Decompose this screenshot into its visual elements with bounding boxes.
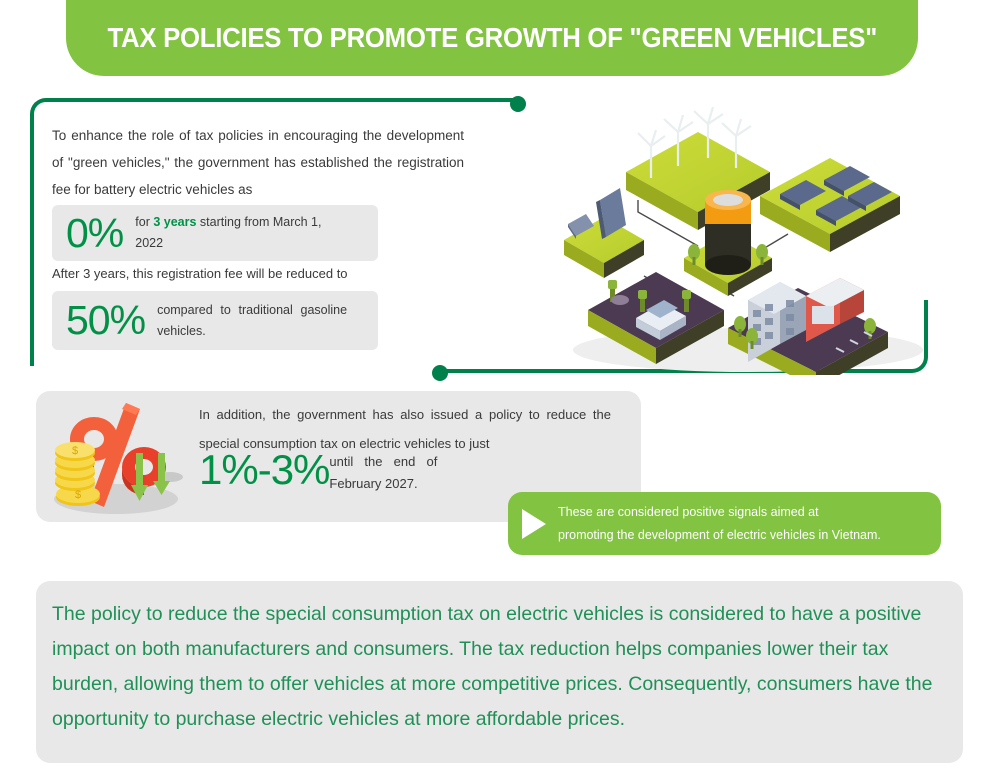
svg-text:$: $ bbox=[75, 489, 81, 501]
svg-text:$: $ bbox=[72, 445, 78, 457]
intro-paragraph: To enhance the role of tax policies in e… bbox=[52, 122, 464, 203]
stat-description-fifty: compared to traditional gasoline vehicle… bbox=[153, 300, 347, 342]
special-tax-range-description: until the end of February 2027. bbox=[329, 448, 437, 495]
bracket-dot-top-icon bbox=[510, 96, 526, 112]
stat-description-zero: for 3 years starting from March 1, 2022 bbox=[131, 212, 325, 254]
stat-desc-prefix: for bbox=[135, 215, 153, 229]
stat-card-zero-percent: 0% for 3 years starting from March 1, 20… bbox=[52, 205, 378, 261]
after-three-years-label: After 3 years, this registration fee wil… bbox=[52, 266, 348, 281]
percent-coins-icon: $ $ bbox=[42, 395, 202, 519]
stat-value-fifty: 50% bbox=[52, 300, 153, 341]
bracket-dot-bottom-icon bbox=[432, 365, 448, 381]
coins-stack: $ $ bbox=[55, 442, 100, 506]
control-station bbox=[564, 188, 644, 278]
page-title: TAX POLICIES TO PROMOTE GROWTH OF "GREEN… bbox=[107, 22, 877, 54]
conclusion-paragraph: The policy to reduce the special consump… bbox=[52, 597, 950, 737]
callout-line-2: promoting the development of electric ve… bbox=[558, 524, 881, 547]
stat-value-zero: 0% bbox=[52, 213, 131, 254]
stat-card-fifty-percent: 50% compared to traditional gasoline veh… bbox=[52, 291, 378, 350]
header-banner: TAX POLICIES TO PROMOTE GROWTH OF "GREEN… bbox=[66, 0, 918, 76]
callout-line-1: These are considered positive signals ai… bbox=[558, 501, 881, 524]
isometric-smart-grid-illustration bbox=[548, 100, 948, 375]
positive-signal-callout: These are considered positive signals ai… bbox=[508, 492, 941, 555]
special-tax-range-value: 1%-3% bbox=[199, 448, 329, 492]
special-tax-range-row: 1%-3% until the end of February 2027. bbox=[199, 448, 437, 495]
callout-text: These are considered positive signals ai… bbox=[558, 501, 893, 547]
stat-desc-highlight: 3 years bbox=[153, 215, 196, 229]
play-triangle-icon bbox=[522, 509, 546, 539]
